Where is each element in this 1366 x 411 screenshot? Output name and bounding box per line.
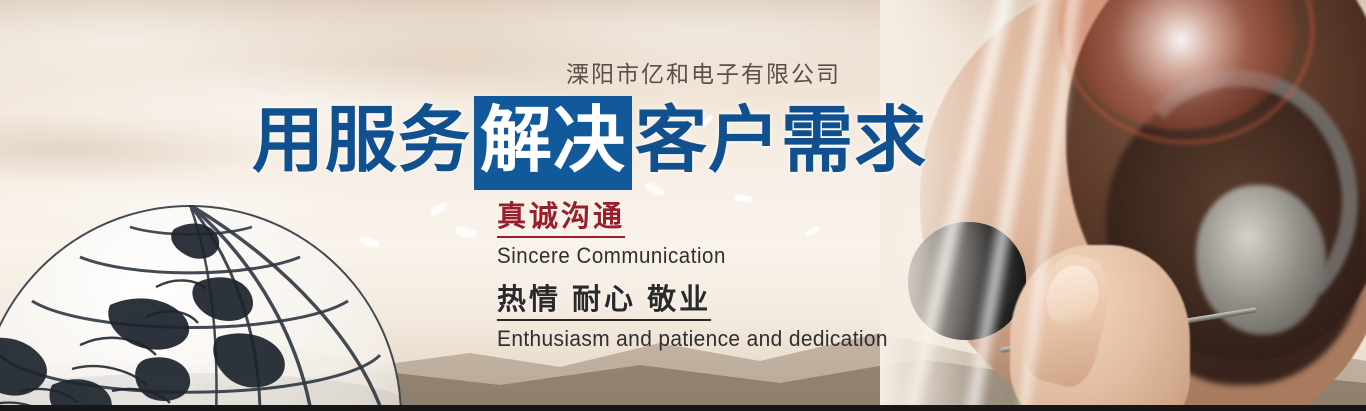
promo-banner: 溧阳市亿和电子有限公司 用服务解决客户需求 真诚沟通 Sincere Commu… [0,0,1366,411]
slogan-en-sincere: Sincere Communication [497,243,880,269]
headline-after: 客户需求 [635,101,927,181]
bottom-bar [0,405,1366,411]
headline-highlight: 解决 [474,96,632,190]
company-name: 溧阳市亿和电子有限公司 [566,55,841,89]
headline: 用服务解决客户需求 [252,96,927,190]
headline-before: 用服务 [252,101,471,181]
slogan-cn-enthusiasm: 热情 耐心 敬业 [497,283,711,321]
agent-photo [880,0,1366,405]
slogan-en-enthusiasm: Enthusiasm and patience and dedication [497,326,888,352]
slogan-cn-sincere: 真诚沟通 [497,200,625,238]
photo-edge-fade [880,0,1366,405]
slogan-block: 真诚沟通 Sincere Communication 热情 耐心 敬业 Enth… [497,200,908,352]
